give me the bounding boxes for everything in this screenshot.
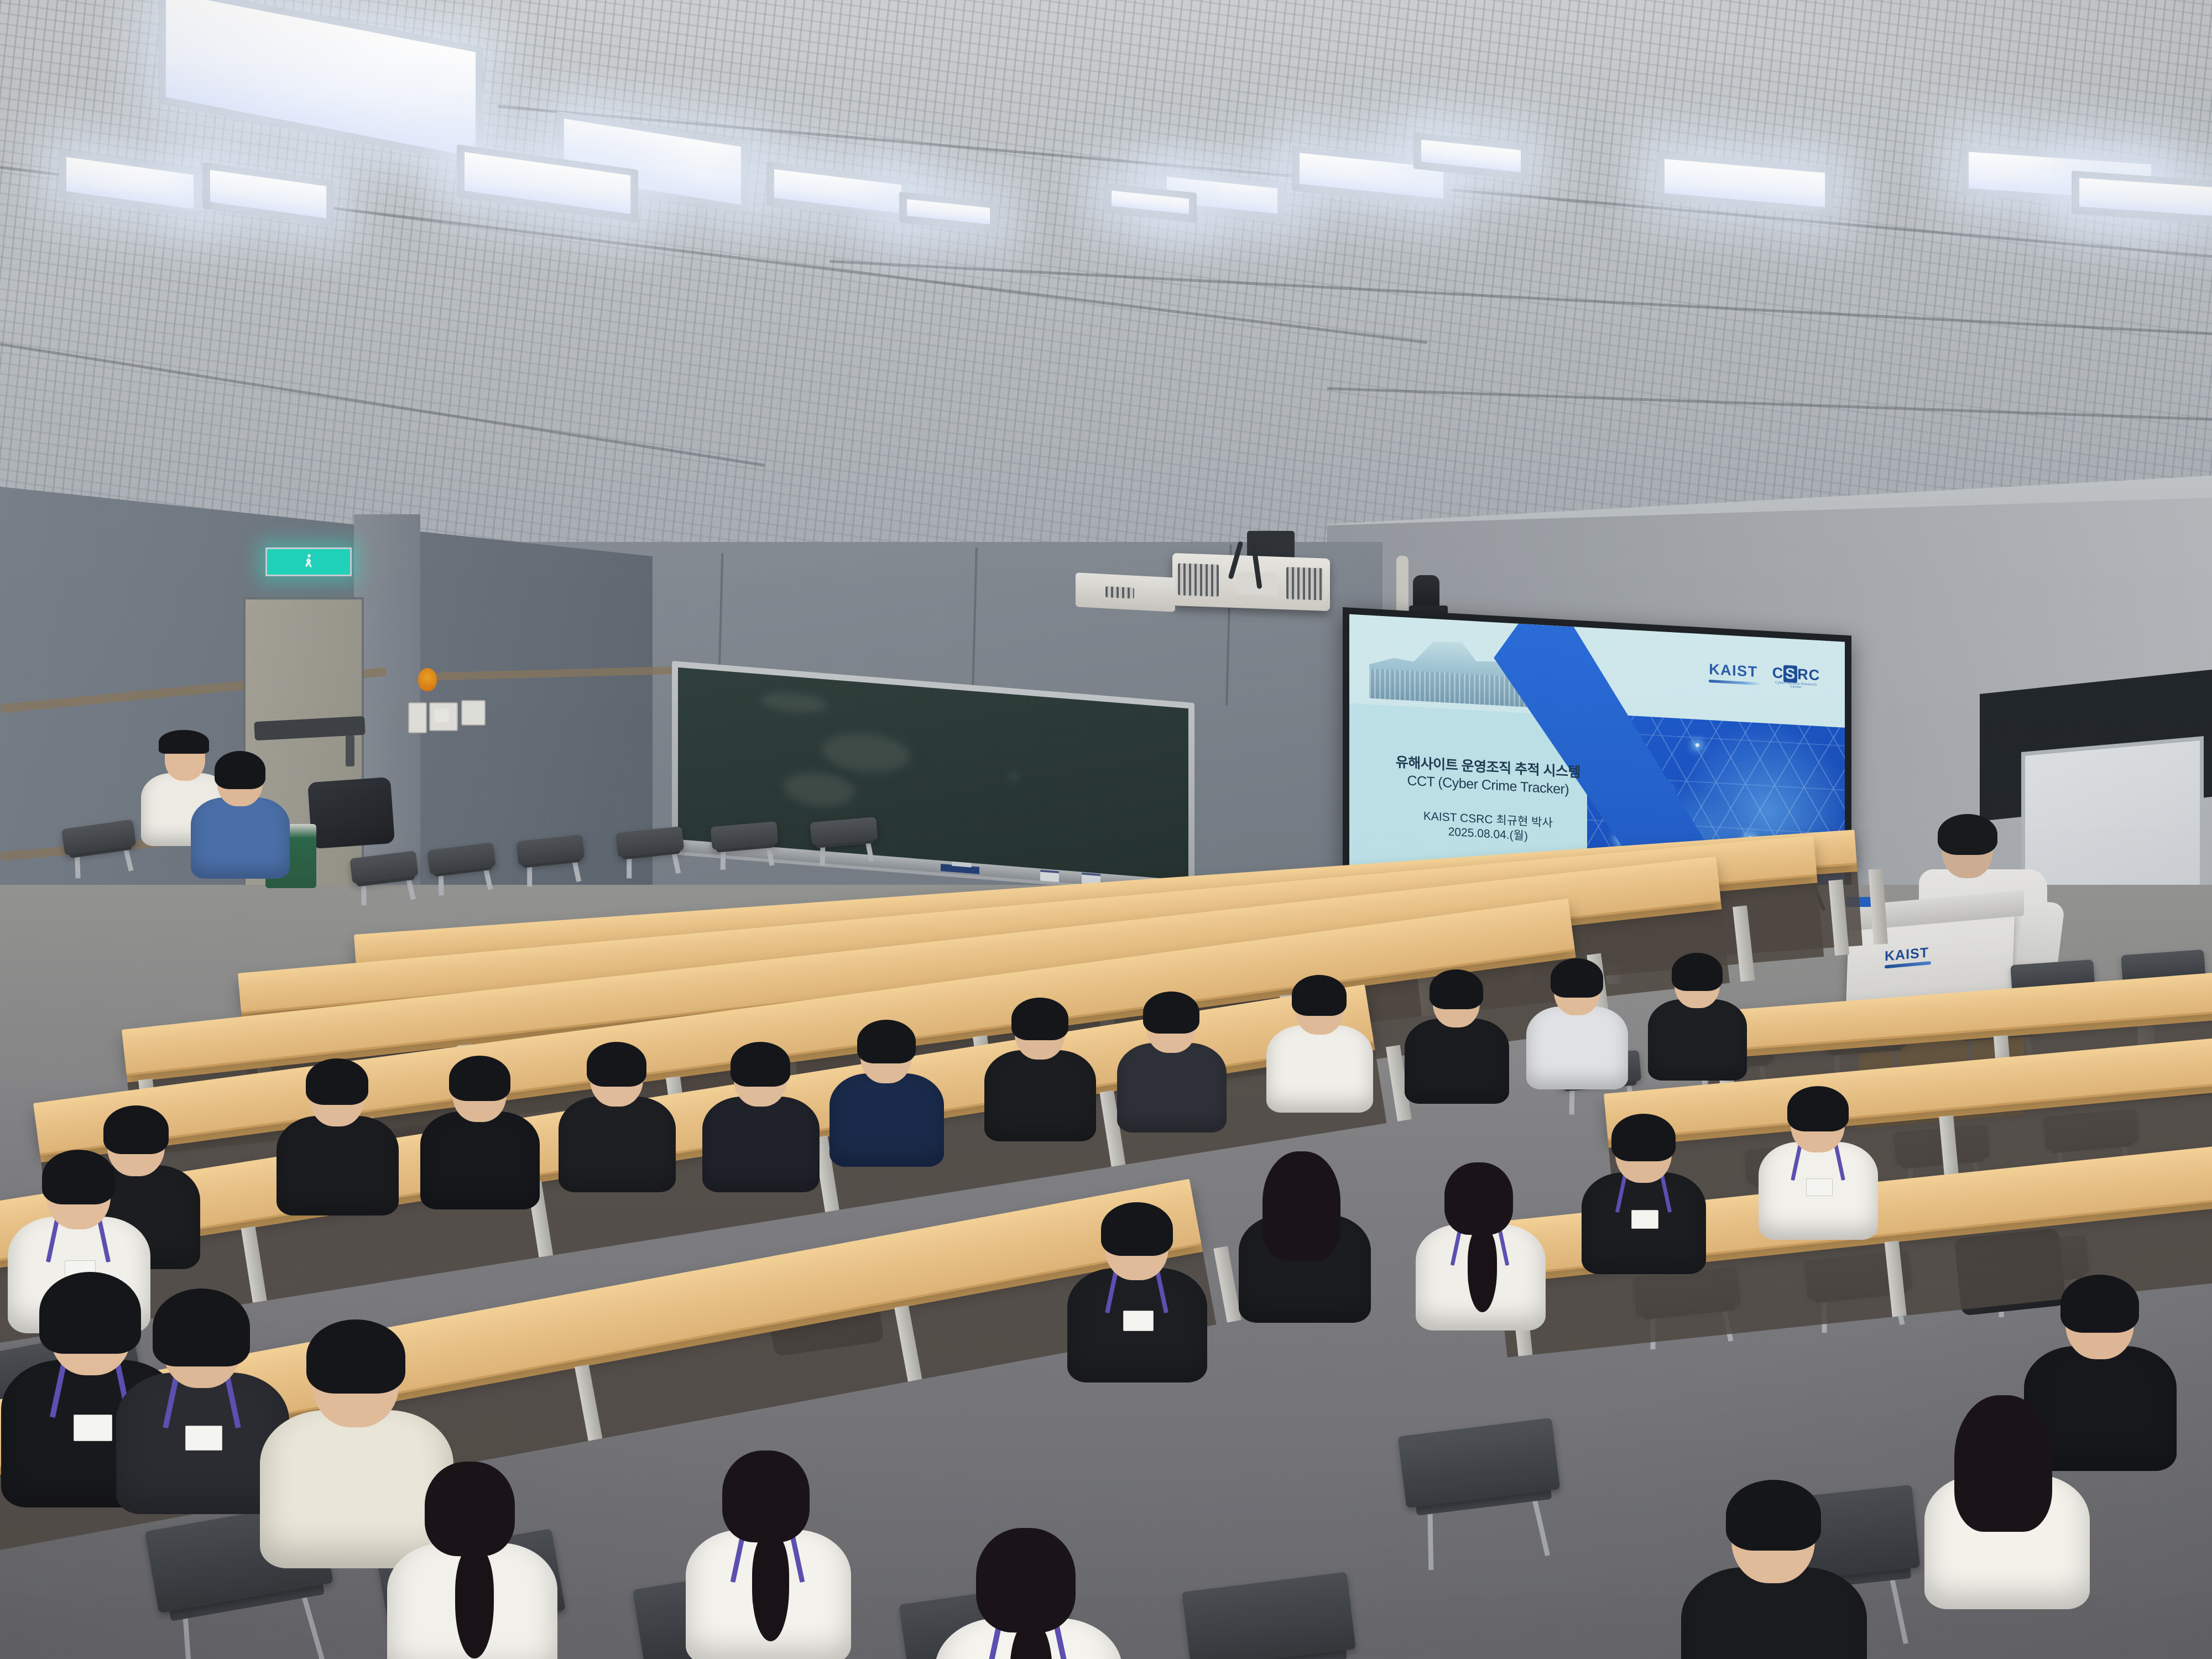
chalk-eraser[interactable] [1040,870,1059,883]
person-hair-short [2060,1275,2139,1333]
chair[interactable] [710,821,782,900]
name-badge [1123,1311,1154,1331]
podium-kaist-logo: KAIST [1885,945,1929,965]
person-hair-ponytail [1444,1162,1513,1235]
audience-member [420,1053,540,1209]
person-hair-short [1292,975,1347,1016]
person-hair-bowl [153,1288,251,1366]
person-hair-short [587,1042,647,1087]
person-torso [984,1050,1096,1141]
person-hair-ponytail [722,1451,810,1542]
person-torso [559,1097,676,1192]
person-hair-ponytail [976,1528,1076,1632]
running-person-icon [303,554,314,570]
ponytail [1468,1228,1497,1312]
audience-member [1117,990,1227,1133]
emergency-exit-sign [265,547,352,576]
audience-member [1582,1112,1706,1274]
secondary-projector [1076,572,1175,612]
person-hair-short [1787,1086,1849,1132]
person-hair-short [1101,1202,1173,1256]
person-torso [1526,1006,1628,1089]
person-hair-short [1672,953,1723,991]
audience-member [686,1449,851,1659]
audience-member [1648,951,1747,1081]
csrc-logo-s: S [1783,665,1797,683]
person-hair-short [1011,998,1069,1040]
person-torso [1266,1025,1373,1113]
person-hair-short [731,1042,791,1087]
lecture-hall-photo: KAIST CSRCCyber Security Research Center… [0,0,2212,1659]
csrc-logo-pre: C [1772,665,1784,682]
ponytail [455,1547,494,1658]
door-handle[interactable] [346,735,354,766]
kaist-logo: KAIST [1709,661,1758,681]
audience-member [1924,1394,2090,1609]
audience-member [387,1460,557,1659]
audience-member [1239,1150,1371,1323]
name-badge [185,1426,222,1451]
person-torso [702,1097,820,1192]
backpack[interactable] [307,777,395,849]
audience-member [559,1040,676,1192]
speaker-mount-arm [1396,556,1408,617]
person-torso [1648,999,1747,1081]
person-hair-short [857,1020,916,1063]
chair[interactable] [349,851,425,933]
person-hair-ponytail [425,1462,515,1557]
person-hair-short [1611,1114,1676,1161]
audience-member [984,995,1096,1141]
audience-member [1067,1200,1207,1383]
chair[interactable] [427,842,502,924]
person-hair-short [1551,958,1603,997]
presenter-hair [1938,814,1997,855]
chair[interactable] [61,820,143,905]
person-torso [1405,1019,1509,1104]
person-hair-long [1954,1395,2052,1532]
audience-member [1266,973,1373,1113]
name-badge [1806,1178,1832,1196]
chair[interactable] [810,817,882,895]
person-hair-short [1726,1480,1821,1551]
person-hair-short [1143,992,1199,1034]
audience-member [702,1040,820,1192]
audience-member [1759,1084,1878,1240]
name-badge [1631,1210,1658,1228]
person-torso [276,1116,399,1215]
name-badge [74,1415,112,1441]
person-hair-short [42,1150,115,1204]
chair[interactable] [516,834,589,915]
chair[interactable] [615,826,689,907]
audience-member [191,749,290,879]
person-hair-short [103,1105,169,1154]
person-hair-long [1262,1151,1340,1261]
fire-alarm-icon [418,668,437,691]
csrc-logo: CSRCCyber Security Research Center [1772,665,1820,685]
switch-plate[interactable] [408,702,427,733]
switch-toggle[interactable] [435,709,449,722]
csrc-logo-post: RC [1797,666,1820,684]
audience-member [1405,968,1509,1104]
person-torso [830,1073,944,1167]
person-torso [1117,1043,1227,1133]
audience-member [1526,957,1628,1089]
audience-member [935,1526,1123,1659]
chair[interactable] [1398,1418,1567,1557]
person-hair-short [306,1058,368,1105]
person-hair-short [215,751,265,789]
person-torso [191,797,290,879]
audience-member [830,1018,944,1167]
person-hair-short [1430,969,1483,1009]
ponytail [752,1533,790,1641]
person-torso [420,1112,540,1209]
audience-member [1681,1477,1867,1659]
person-hair-short [449,1056,510,1102]
switch-plate[interactable] [461,700,486,726]
slide-text-block: 유해사이트 운영조직 추적 시스템 CCT (Cyber Crime Track… [1379,752,1597,848]
audience-member [1416,1161,1546,1331]
audience-member [276,1056,399,1215]
ceiling-projector [1172,553,1330,611]
person-hair-short [306,1319,405,1394]
